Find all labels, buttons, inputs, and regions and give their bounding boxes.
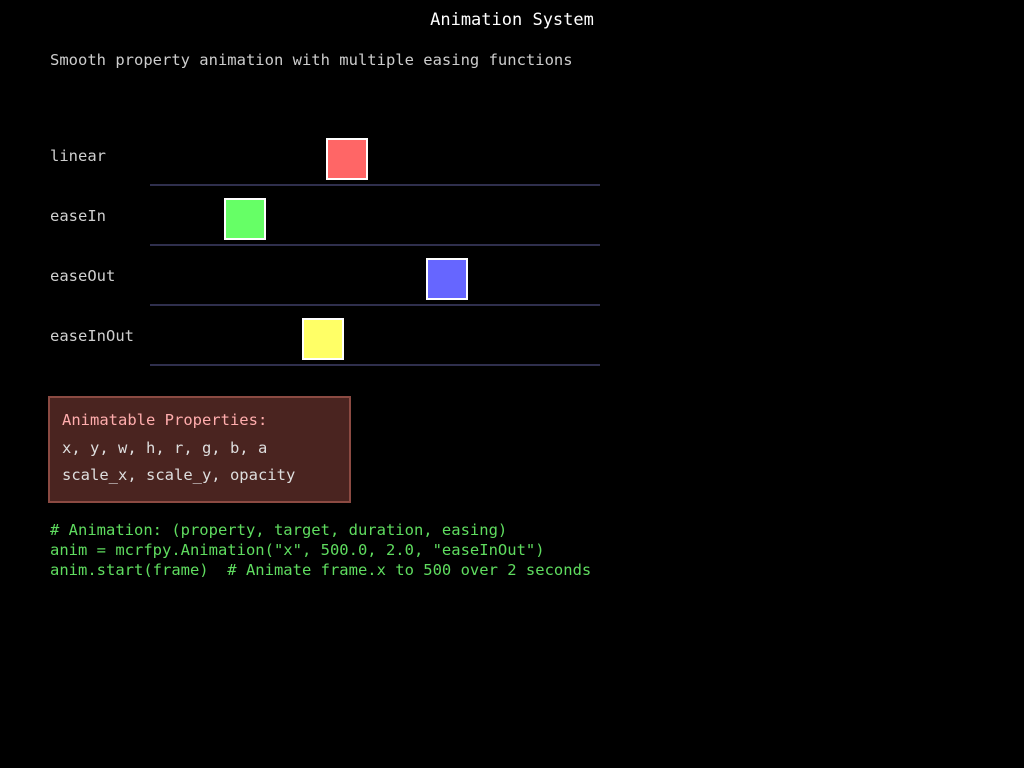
animated-box[interactable]: [426, 258, 468, 300]
code-line: anim = mcrfpy.Animation("x", 500.0, 2.0,…: [50, 540, 591, 560]
easing-track-line: [150, 184, 600, 186]
animatable-properties-line: x, y, w, h, r, g, b, a: [62, 438, 267, 458]
animatable-properties-line: scale_x, scale_y, opacity: [62, 465, 295, 485]
animatable-properties-heading: Animatable Properties:: [62, 410, 267, 430]
animated-box[interactable]: [302, 318, 344, 360]
easing-track-label: easeIn: [50, 206, 106, 226]
animated-box[interactable]: [224, 198, 266, 240]
code-line: # Animation: (property, target, duration…: [50, 520, 591, 540]
easing-track-line: [150, 244, 600, 246]
easing-track-label: linear: [50, 146, 106, 166]
animated-box[interactable]: [326, 138, 368, 180]
animation-system-demo-canvas: Animation System Smooth property animati…: [0, 0, 1024, 768]
easing-tracks-group: lineareaseIneaseOuteaseInOut: [0, 0, 1024, 768]
code-line: anim.start(frame) # Animate frame.x to 5…: [50, 560, 591, 580]
easing-track-line: [150, 364, 600, 366]
animatable-properties-panel: Animatable Properties: x, y, w, h, r, g,…: [48, 396, 351, 503]
easing-track-label: easeOut: [50, 266, 115, 286]
easing-track-line: [150, 304, 600, 306]
easing-track-label: easeInOut: [50, 326, 134, 346]
code-example-block: # Animation: (property, target, duration…: [50, 520, 591, 580]
